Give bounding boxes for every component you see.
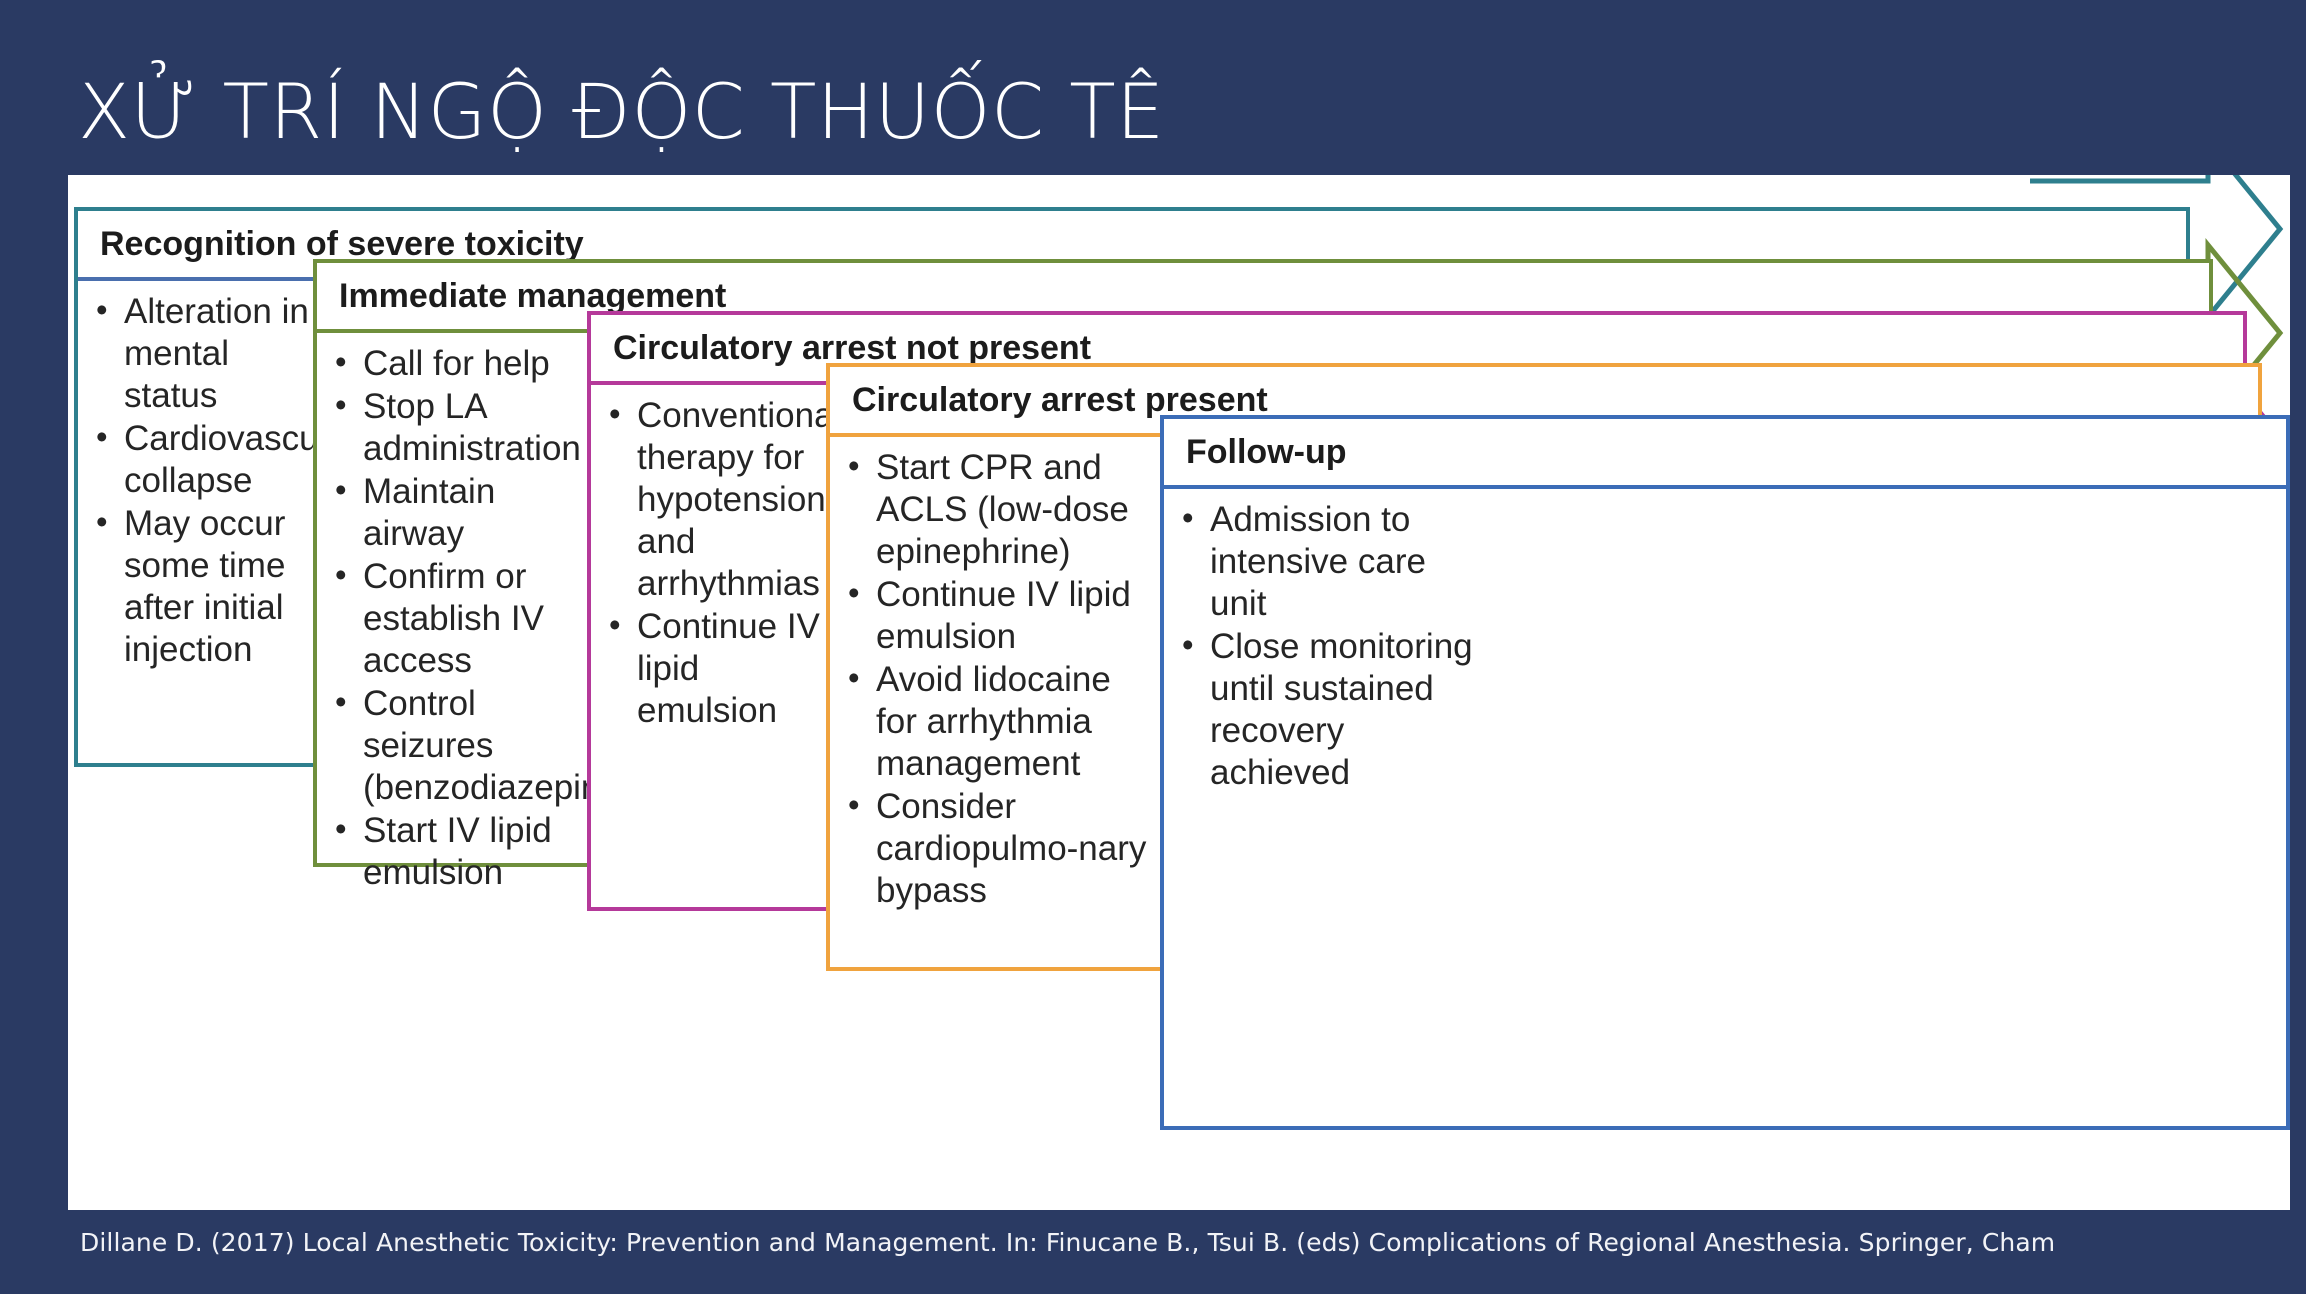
bullet-list: Admission to intensive care unit Close m… (1180, 499, 1480, 794)
list-item: Maintain airway (333, 471, 577, 555)
list-item: Cardiovascular collapse (94, 418, 310, 502)
slide-canvas: XỬ TRÍ NGỘ ĐỘC THUỐC TÊ Recognition of s… (0, 0, 2306, 1294)
flow-box-header: Follow-up (1164, 419, 2286, 489)
list-item: Admission to intensive care unit (1180, 499, 1480, 625)
list-item: May occur some time after initial inject… (94, 503, 310, 671)
list-item: Alteration in mental status (94, 291, 310, 417)
bullet-list: Alteration in mental status Cardiovascul… (94, 291, 310, 671)
flow-box-body: Start CPR and ACLS (low-dose epinephrine… (830, 437, 1170, 945)
list-item: Continue IV lipid emulsion (607, 606, 821, 732)
bullet-list: Conventional therapy for hypotension and… (607, 395, 821, 732)
list-item: Continue IV lipid emulsion (846, 574, 1152, 658)
list-item: Close monitoring until sustained recover… (1180, 626, 1480, 794)
list-item: Avoid lidocaine for arrhythmia managemen… (846, 659, 1152, 785)
list-item: Consider cardiopulmo-nary bypass (846, 786, 1152, 912)
list-item: Control seizures (benzodiazepines) (333, 683, 577, 809)
list-item: Start IV lipid emulsion (333, 810, 577, 894)
flow-box-body: Call for help Stop LA administration Mai… (317, 333, 595, 843)
page-title: XỬ TRÍ NGỘ ĐỘC THUỐC TÊ (78, 68, 1165, 155)
list-item: Confirm or establish IV access (333, 556, 577, 682)
list-item: Stop LA administration (333, 386, 577, 470)
list-item: Call for help (333, 343, 577, 385)
flow-box-follow-up: Follow-up Admission to intensive care un… (1160, 415, 2290, 1130)
figure-panel: Recognition of severe toxicity Alteratio… (68, 175, 2290, 1210)
bullet-list: Start CPR and ACLS (low-dose epinephrine… (846, 447, 1152, 912)
flow-box-body: Alteration in mental status Cardiovascul… (78, 281, 328, 749)
figure-citation: Dillane D. (2017) Local Anesthetic Toxic… (80, 1228, 2055, 1257)
bullet-list: Call for help Stop LA administration Mai… (333, 343, 577, 894)
flow-box-body: Conventional therapy for hypotension and… (591, 385, 839, 887)
flow-box-body: Admission to intensive care unit Close m… (1164, 489, 1494, 1104)
list-item: Start CPR and ACLS (low-dose epinephrine… (846, 447, 1152, 573)
list-item: Conventional therapy for hypotension and… (607, 395, 821, 605)
